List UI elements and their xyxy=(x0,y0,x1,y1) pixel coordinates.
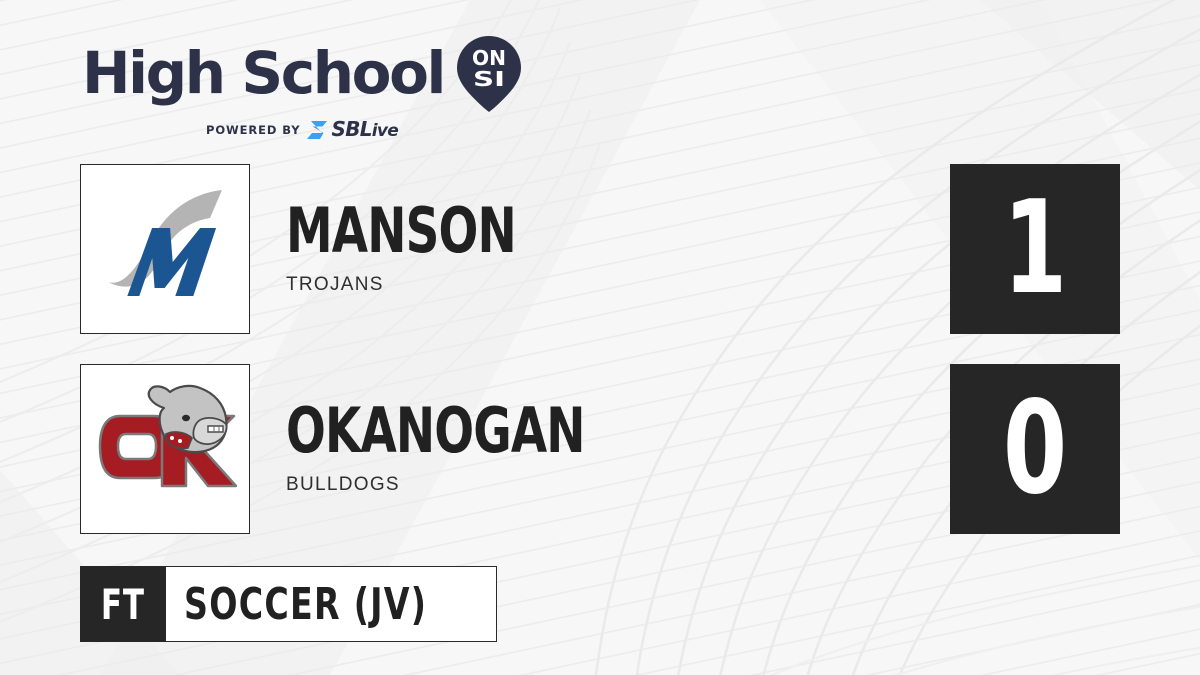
sblive-bolt-icon xyxy=(307,120,328,140)
team-logo-tile-manson xyxy=(80,164,250,334)
status-period-label: FT xyxy=(101,580,145,629)
brand-row: High School ON SI xyxy=(82,34,525,112)
on-si-pin-icon: ON SI xyxy=(453,34,525,112)
team-mascot: TROJANS xyxy=(286,274,926,296)
sblive-wordmark: SBLive xyxy=(331,119,398,140)
team-mascot: BULLDOGS xyxy=(286,474,926,496)
team-name: MANSON xyxy=(286,202,824,261)
team-name: OKANOGAN xyxy=(286,402,824,461)
score-value: 1 xyxy=(1003,185,1067,313)
brand-header: High School ON SI POWERED BY SBLive xyxy=(82,34,525,140)
status-sport-panel: SOCCER (JV) xyxy=(166,566,497,642)
scoreboard-stage: High School ON SI POWERED BY SBLive xyxy=(0,0,1200,675)
pin-line-si: SI xyxy=(473,67,505,91)
score-box-manson: 1 xyxy=(950,164,1120,334)
team-text-manson: MANSON TROJANS xyxy=(286,164,926,334)
sblive-lower: ive xyxy=(372,121,398,141)
team-logo-tile-okanogan xyxy=(80,364,250,534)
okanogan-ok-bulldog-logo xyxy=(90,374,240,524)
sblive-logo: SBLive xyxy=(307,119,398,140)
brand-wordmark: High School xyxy=(82,44,444,102)
status-sport-label: SOCCER (JV) xyxy=(184,579,427,630)
status-period-badge: FT xyxy=(80,566,166,642)
manson-m-swoosh-logo xyxy=(90,174,240,324)
sblive-upper: SBL xyxy=(331,117,371,141)
powered-by-label: POWERED BY xyxy=(206,123,300,137)
team-text-okanogan: OKANOGAN BULLDOGS xyxy=(286,364,926,534)
powered-by-row: POWERED BY SBLive xyxy=(206,119,525,140)
score-box-okanogan: 0 xyxy=(950,364,1120,534)
game-status-bar: FT SOCCER (JV) xyxy=(80,566,497,642)
score-value: 0 xyxy=(1003,385,1067,513)
